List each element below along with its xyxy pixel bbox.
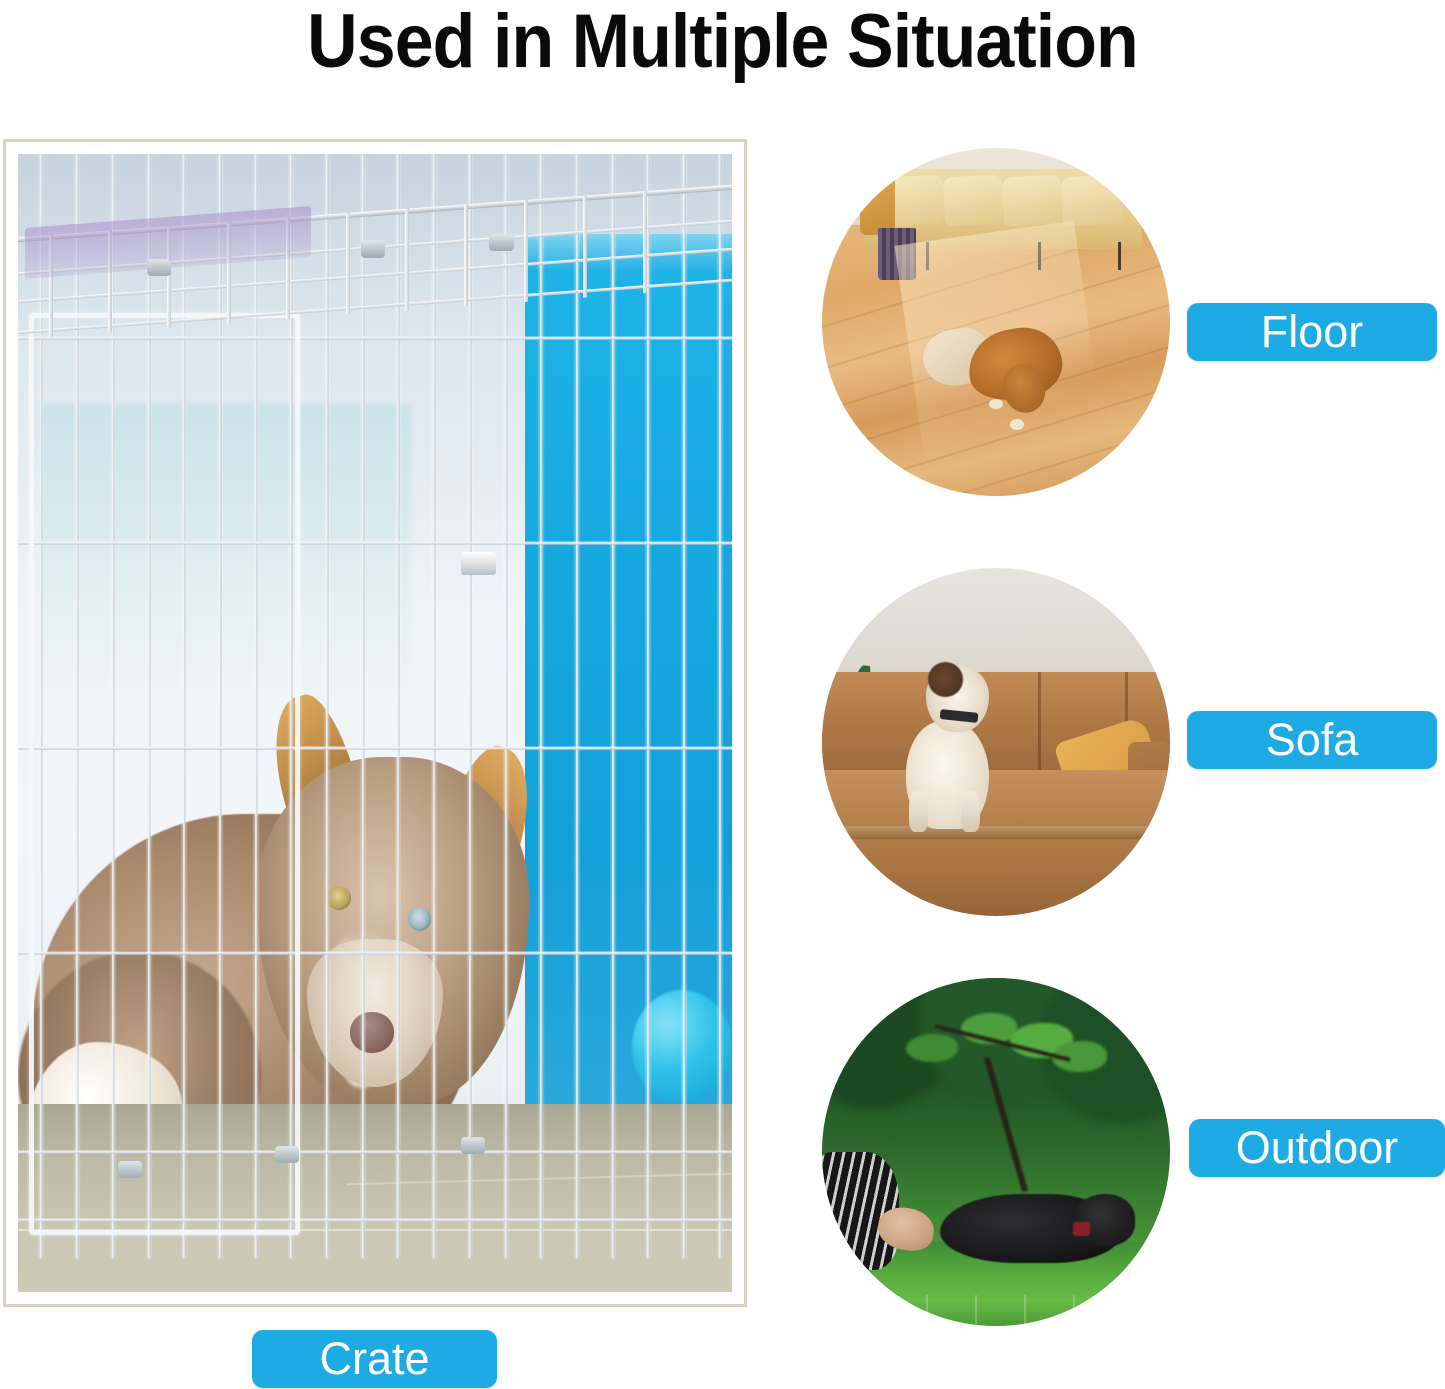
cage-wire-vertical (325, 154, 329, 1258)
page-title: Used in Multiple Situation (58, 0, 1387, 88)
dog-eye-left (327, 886, 351, 910)
outdoor-grass-blade (1073, 1295, 1075, 1326)
outdoor-leaf-cluster (906, 1034, 958, 1062)
outdoor-grass-blade (975, 1295, 977, 1326)
dog-nose (350, 1012, 394, 1053)
floor-dog-paw (1010, 419, 1024, 429)
cage-wire-vertical (361, 154, 365, 1258)
infographic-page: Used in Multiple Situation (0, 0, 1445, 1389)
floor-sofa-leg (1118, 242, 1121, 270)
cage-wire-vertical (718, 154, 722, 1258)
cage-clip (461, 1137, 485, 1154)
cage-wire-vertical (646, 154, 650, 1258)
cage-clip (489, 234, 513, 251)
outdoor-grass-blade (885, 1295, 887, 1326)
cage-clip (118, 1161, 142, 1178)
outdoor-dog-head (1073, 1194, 1136, 1246)
cage-wire-vertical (682, 154, 686, 1258)
cage-door-frame (29, 313, 300, 1235)
sofa-scene-seat (822, 770, 1170, 916)
sofa-dog-leg (961, 791, 980, 833)
cage-lid-wire (345, 213, 349, 316)
sofa-seat-edge (822, 826, 1170, 840)
outdoor-grass-blade (1024, 1295, 1026, 1326)
sofa-dog-leg (909, 791, 928, 833)
cage-wire-vertical (575, 154, 579, 1258)
cage-wire-vertical (396, 154, 400, 1258)
floor-sofa-arm (860, 172, 895, 235)
situation-label-outdoor[interactable]: Outdoor (1189, 1119, 1445, 1177)
cage-lid-wire (524, 200, 528, 303)
crate-backdrop-blue-panel (525, 234, 732, 1110)
situation-image-sofa (822, 568, 1170, 916)
cage-wire-vertical (468, 154, 472, 1258)
situation-label-crate[interactable]: Crate (252, 1330, 497, 1388)
outdoor-dog-collar (1073, 1222, 1090, 1236)
situation-label-floor[interactable]: Floor (1187, 303, 1437, 361)
cage-lid-wire (583, 195, 587, 298)
outdoor-grass-blade (926, 1295, 928, 1326)
crate-photo-frame (3, 139, 747, 1307)
floor-sofa-cushion (1002, 174, 1064, 226)
situation-image-outdoor (822, 978, 1170, 1326)
situation-label-sofa[interactable]: Sofa (1187, 711, 1437, 769)
cage-clip (361, 240, 385, 257)
floor-dog-paw (989, 399, 1003, 409)
cage-wire-vertical (432, 154, 436, 1258)
cage-lid-wire (642, 191, 646, 294)
cage-wire-vertical (539, 154, 543, 1258)
cage-lid-wire (464, 204, 468, 307)
sofa-dog-ear-curl (928, 662, 963, 697)
situation-image-floor (822, 148, 1170, 496)
cage-wire-vertical (504, 154, 508, 1258)
cage-clip (147, 259, 171, 276)
cage-wire-vertical (611, 154, 615, 1258)
floor-sofa-cushion (1061, 174, 1123, 226)
floor-sofa-cushion (943, 174, 1005, 226)
cage-clip (275, 1146, 299, 1163)
cage-lid-wire (405, 208, 409, 311)
cage-latch (461, 552, 497, 575)
crate-photo (18, 154, 732, 1292)
